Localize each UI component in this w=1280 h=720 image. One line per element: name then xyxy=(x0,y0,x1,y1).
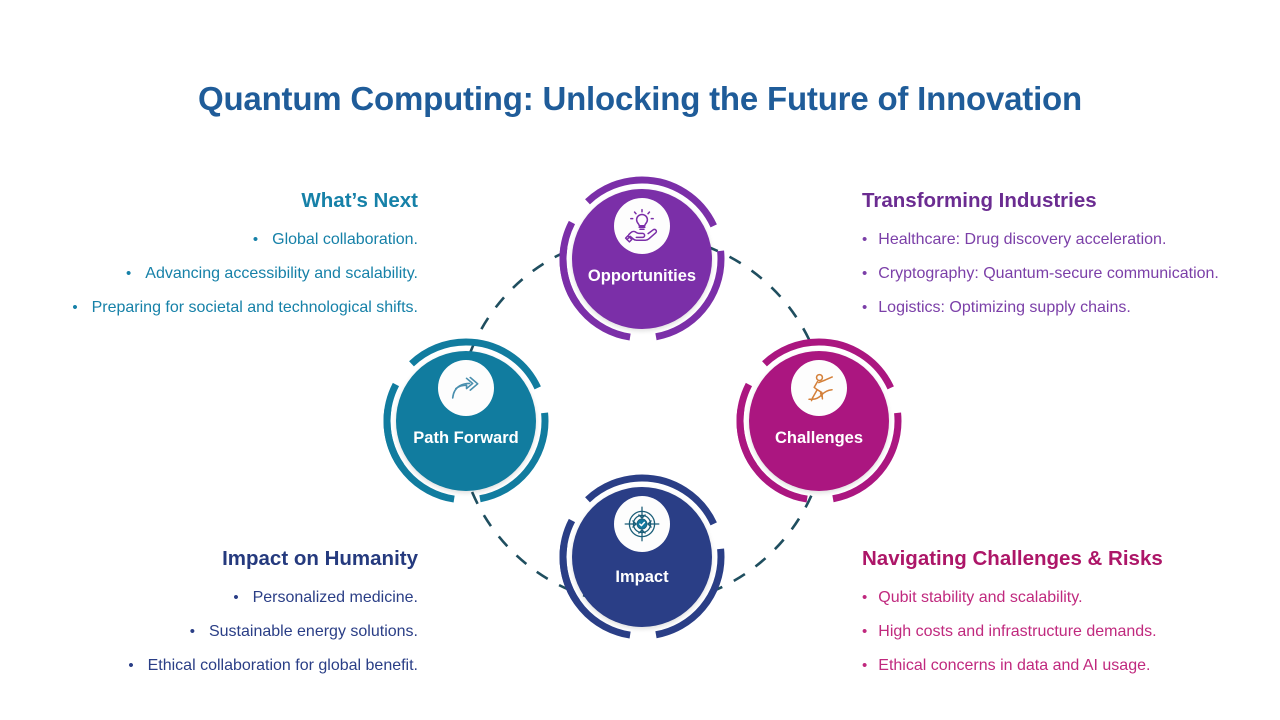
node-label-path-forward: Path Forward xyxy=(377,429,555,448)
node-challenges[interactable]: Challenges xyxy=(730,332,908,510)
node-opportunities[interactable]: Opportunities xyxy=(553,170,731,348)
page-title: Quantum Computing: Unlocking the Future … xyxy=(0,80,1280,118)
bullet-icon: • xyxy=(128,649,133,683)
bullet-icon: • xyxy=(253,223,258,257)
node-label-challenges: Challenges xyxy=(730,429,908,448)
node-label-impact: Impact xyxy=(553,568,731,587)
bullet-icon: • xyxy=(72,291,77,325)
bullet-icon: • xyxy=(190,615,195,649)
node-path-forward[interactable]: Path Forward xyxy=(377,332,555,510)
hand-holding-lightbulb-icon xyxy=(614,198,670,254)
node-impact[interactable]: Impact xyxy=(553,468,731,646)
target-checkmark-icon xyxy=(614,496,670,552)
bullet-icon: • xyxy=(126,257,131,291)
node-label-opportunities: Opportunities xyxy=(553,267,731,286)
person-pulling-rope-icon xyxy=(791,360,847,416)
bullet-icon: • xyxy=(233,581,238,615)
curved-forward-arrow-icon xyxy=(438,360,494,416)
cycle-diagram: Opportunities Challenges xyxy=(355,170,930,680)
